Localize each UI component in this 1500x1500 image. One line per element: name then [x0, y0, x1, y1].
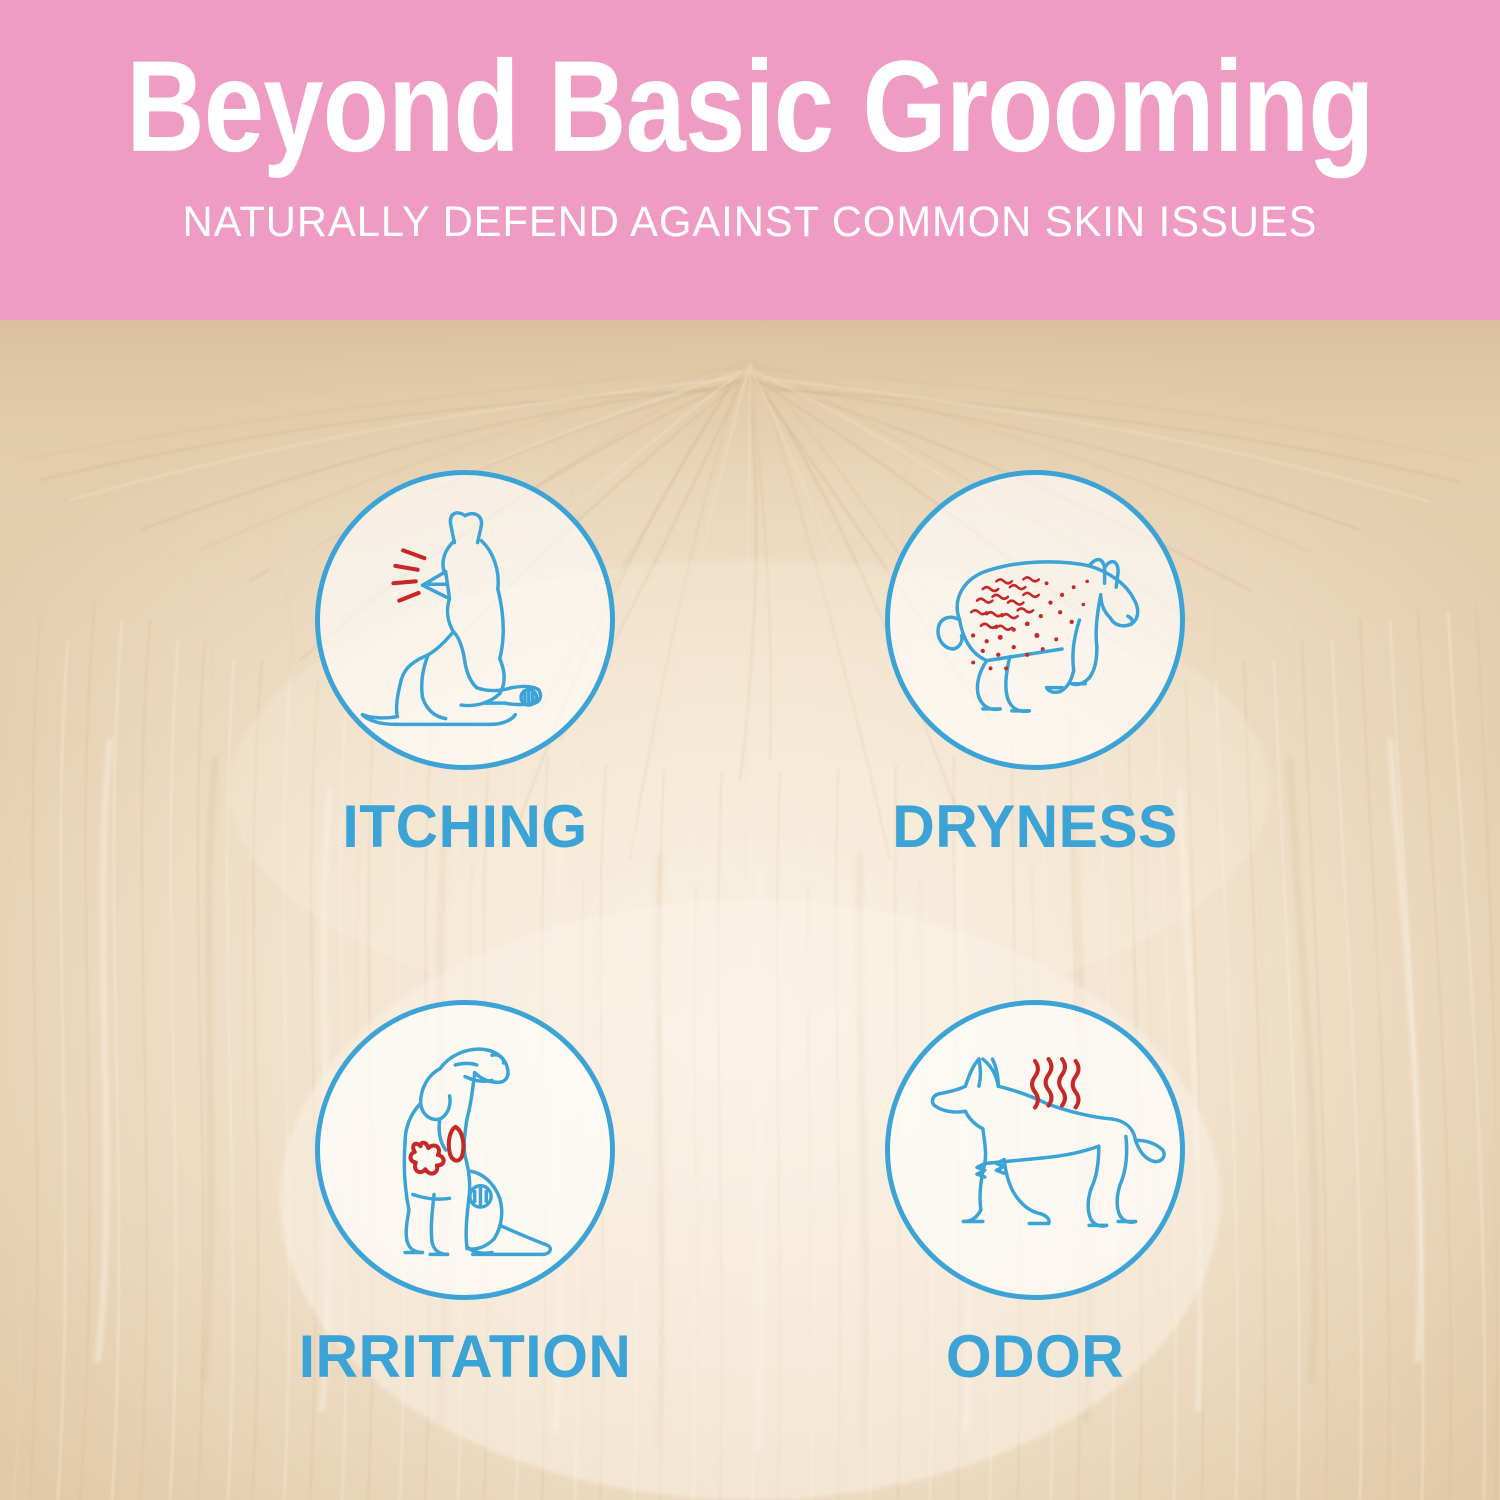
dog-flaky-skin-icon	[885, 470, 1185, 770]
benefits-grid: ITCHING	[0, 320, 1500, 1500]
dog-irritated-patch-graphic	[320, 1005, 610, 1295]
benefit-label-odor: ODOR	[761, 1324, 1310, 1390]
page-subtitle: NATURALLY DEFEND AGAINST COMMON SKIN ISS…	[183, 198, 1318, 247]
benefit-label-irritation: IRRITATION	[191, 1324, 740, 1390]
poster: Beyond Basic Grooming NATURALLY DEFEND A…	[0, 0, 1500, 1500]
dog-odor-icon	[885, 1000, 1185, 1300]
benefit-item-itching: ITCHING	[185, 470, 745, 860]
page-title: Beyond Basic Grooming	[126, 42, 1373, 172]
dog-irritated-patch-icon	[315, 1000, 615, 1300]
benefit-item-odor: ODOR	[755, 1000, 1315, 1390]
dog-scratching-icon	[315, 470, 615, 770]
benefit-item-dryness: DRYNESS	[755, 470, 1315, 860]
header-banner: Beyond Basic Grooming NATURALLY DEFEND A…	[0, 0, 1500, 320]
benefit-label-itching: ITCHING	[191, 794, 740, 860]
dog-odor-graphic	[890, 1005, 1180, 1295]
benefit-label-dryness: DRYNESS	[761, 794, 1310, 860]
dog-flaky-skin-graphic	[890, 475, 1180, 765]
dog-scratching-graphic	[320, 475, 610, 765]
benefit-item-irritation: IRRITATION	[185, 1000, 745, 1390]
